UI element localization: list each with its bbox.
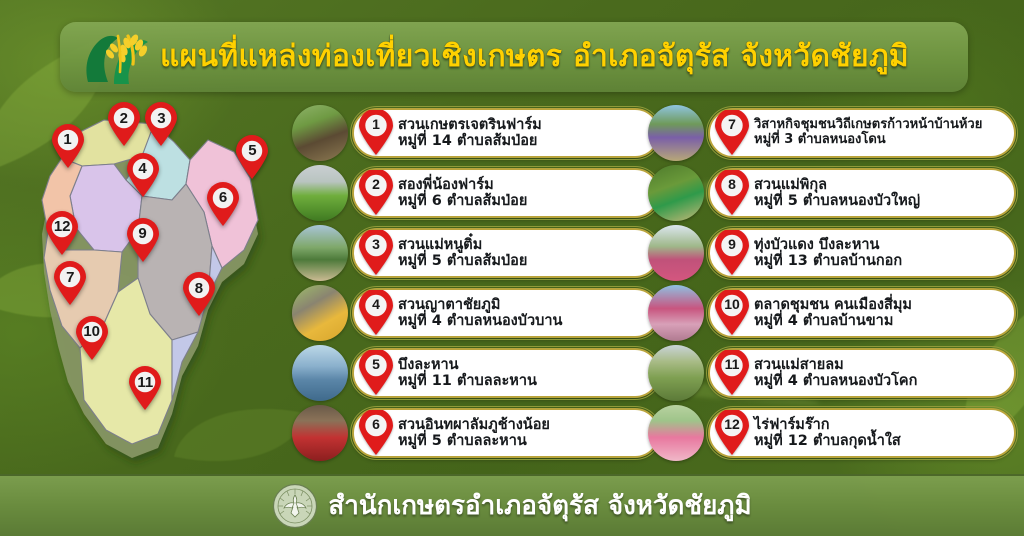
card-text: วิสาหกิจชุมชนวิถีเกษตรก้าวหน้าบ้านห้วย ห… <box>754 118 982 147</box>
place-card[interactable]: 1 สวนเกษตรเจตรินฟาร์ม หมู่ที่ 14 ตำบลส้ม… <box>352 108 660 158</box>
map-pin-11[interactable]: 11 <box>128 367 162 411</box>
place-subtitle: หมู่ที่ 11 ตำบลละหาน <box>398 373 537 389</box>
card-text: สวนแม่หนูติ๋ม หมู่ที่ 5 ตำบลส้มป่อย <box>398 237 527 269</box>
card-pin-label: 11 <box>714 351 750 376</box>
card-pin-label: 8 <box>714 171 750 196</box>
place-subtitle: หมู่ที่ 6 ตำบลส้มป่อย <box>398 193 527 209</box>
list-column-left: 1 สวนเกษตรเจตรินฟาร์ม หมู่ที่ 14 ตำบลส้ม… <box>292 108 660 468</box>
list-item[interactable]: 10 ตลาดชุมชน คนเมืองสี่มุม หมู่ที่ 4 ตำบ… <box>648 288 1016 338</box>
place-title: สองพี่น้องฟาร์ม <box>398 177 527 193</box>
place-card[interactable]: 4 สวนญาตาชัยภูมิ หมู่ที่ 4 ตำบลหนองบัวบา… <box>352 288 660 338</box>
place-subtitle: หมู่ที่ 4 ตำบลหนองบัวโคก <box>754 373 917 389</box>
map-pin-8[interactable]: 8 <box>182 273 216 317</box>
thumbnail-photo <box>648 285 704 341</box>
list-item[interactable]: 7 วิสาหกิจชุมชนวิถีเกษตรก้าวหน้าบ้านห้วย… <box>648 108 1016 158</box>
list-item[interactable]: 9 ทุ่งบัวแดง บึงละหาน หมู่ที่ 13 ตำบลบ้า… <box>648 228 1016 278</box>
place-subtitle: หมู่ที่ 14 ตำบลส้มป่อย <box>398 133 542 149</box>
card-text: สวนเกษตรเจตรินฟาร์ม หมู่ที่ 14 ตำบลส้มป่… <box>398 117 542 149</box>
place-subtitle: หมู่ที่ 4 ตำบลบ้านขาม <box>754 313 912 329</box>
card-pin-icon: 5 <box>358 350 394 396</box>
map-pin-1[interactable]: 1 <box>51 125 85 169</box>
list-item[interactable]: 5 บึงละหาน หมู่ที่ 11 ตำบลละหาน <box>292 348 660 398</box>
list-item[interactable]: 3 สวนแม่หนูติ๋ม หมู่ที่ 5 ตำบลส้มป่อย <box>292 228 660 278</box>
thumbnail-photo <box>292 225 348 281</box>
place-card[interactable]: 5 บึงละหาน หมู่ที่ 11 ตำบลละหาน <box>352 348 660 398</box>
list-item[interactable]: 2 สองพี่น้องฟาร์ม หมู่ที่ 6 ตำบลส้มป่อย <box>292 168 660 218</box>
place-title: สวนแม่สายลม <box>754 357 917 373</box>
place-subtitle: หมู่ที่ 4 ตำบลหนองบัวบาน <box>398 313 562 329</box>
card-text: สวนญาตาชัยภูมิ หมู่ที่ 4 ตำบลหนองบัวบาน <box>398 297 562 329</box>
garuda-seal-icon <box>272 483 318 529</box>
thumbnail-photo <box>648 225 704 281</box>
page-title: แผนที่แหล่งท่องเที่ยวเชิงเกษตร อำเภอจัตุ… <box>160 42 909 72</box>
thumbnail-photo <box>292 285 348 341</box>
list-item[interactable]: 6 สวนอินทผาลัมภูช้างน้อย หมู่ที่ 5 ตำบลล… <box>292 408 660 458</box>
card-pin-icon: 6 <box>358 410 394 456</box>
place-title: สวนแม่พิกุล <box>754 177 920 193</box>
infographic-canvas: แผนที่แหล่งท่องเที่ยวเชิงเกษตร อำเภอจัตุ… <box>0 0 1024 536</box>
map-pin-2[interactable]: 2 <box>107 103 141 147</box>
thumbnail-photo <box>292 165 348 221</box>
list-item[interactable]: 11 สวนแม่สายลม หมู่ที่ 4 ตำบลหนองบัวโคก <box>648 348 1016 398</box>
place-card[interactable]: 7 วิสาหกิจชุมชนวิถีเกษตรก้าวหน้าบ้านห้วย… <box>708 108 1016 158</box>
thumbnail-photo <box>648 105 704 161</box>
place-card[interactable]: 12 ไร่ฟาร์มร๊าก หมู่ที่ 12 ตำบลกุดน้ำใส <box>708 408 1016 458</box>
place-card[interactable]: 8 สวนแม่พิกุล หมู่ที่ 5 ตำบลหนองบัวใหญ่ <box>708 168 1016 218</box>
card-text: สองพี่น้องฟาร์ม หมู่ที่ 6 ตำบลส้มป่อย <box>398 177 527 209</box>
place-title: วิสาหกิจชุมชนวิถีเกษตรก้าวหน้าบ้านห้วย <box>754 118 982 133</box>
list-item[interactable]: 4 สวนญาตาชัยภูมิ หมู่ที่ 4 ตำบลหนองบัวบา… <box>292 288 660 338</box>
card-text: สวนอินทผาลัมภูช้างน้อย หมู่ที่ 5 ตำบลละห… <box>398 417 550 449</box>
card-pin-label: 2 <box>358 171 394 196</box>
map-pin-10[interactable]: 10 <box>75 317 109 361</box>
place-card[interactable]: 10 ตลาดชุมชน คนเมืองสี่มุม หมู่ที่ 4 ตำบ… <box>708 288 1016 338</box>
footer-title: สำนักเกษตรอำเภอจัตุรัส จังหวัดชัยภูมิ <box>328 493 751 519</box>
card-pin-icon: 8 <box>714 170 750 216</box>
card-pin-label: 3 <box>358 231 394 256</box>
card-pin-icon: 12 <box>714 410 750 456</box>
thumbnail-photo <box>648 165 704 221</box>
thumbnail-photo <box>648 345 704 401</box>
place-card[interactable]: 6 สวนอินทผาลัมภูช้างน้อย หมู่ที่ 5 ตำบลล… <box>352 408 660 458</box>
card-pin-icon: 3 <box>358 230 394 276</box>
place-title: ตลาดชุมชน คนเมืองสี่มุม <box>754 297 912 313</box>
card-text: ตลาดชุมชน คนเมืองสี่มุม หมู่ที่ 4 ตำบลบ้… <box>754 297 912 329</box>
map-pin-5[interactable]: 5 <box>235 136 269 180</box>
card-pin-label: 5 <box>358 351 394 376</box>
place-subtitle: หมู่ที่ 3 ตำบลหนองโดน <box>754 133 982 148</box>
place-title: สวนแม่หนูติ๋ม <box>398 237 527 253</box>
list-item[interactable]: 12 ไร่ฟาร์มร๊าก หมู่ที่ 12 ตำบลกุดน้ำใส <box>648 408 1016 458</box>
card-text: สวนแม่สายลม หมู่ที่ 4 ตำบลหนองบัวโคก <box>754 357 917 389</box>
card-pin-label: 12 <box>714 411 750 436</box>
card-pin-label: 1 <box>358 111 394 136</box>
card-pin-label: 7 <box>714 111 750 136</box>
place-card[interactable]: 2 สองพี่น้องฟาร์ม หมู่ที่ 6 ตำบลส้มป่อย <box>352 168 660 218</box>
thumbnail-photo <box>292 105 348 161</box>
place-subtitle: หมู่ที่ 5 ตำบลส้มป่อย <box>398 253 527 269</box>
thumbnail-photo <box>292 405 348 461</box>
card-pin-icon: 11 <box>714 350 750 396</box>
place-card[interactable]: 3 สวนแม่หนูติ๋ม หมู่ที่ 5 ตำบลส้มป่อย <box>352 228 660 278</box>
place-card[interactable]: 11 สวนแม่สายลม หมู่ที่ 4 ตำบลหนองบัวโคก <box>708 348 1016 398</box>
card-text: ทุ่งบัวแดง บึงละหาน หมู่ที่ 13 ตำบลบ้านก… <box>754 237 902 269</box>
place-card[interactable]: 9 ทุ่งบัวแดง บึงละหาน หมู่ที่ 13 ตำบลบ้า… <box>708 228 1016 278</box>
place-title: สวนอินทผาลัมภูช้างน้อย <box>398 417 550 433</box>
map-pin-6[interactable]: 6 <box>206 183 240 227</box>
place-title: ไร่ฟาร์มร๊าก <box>754 417 901 433</box>
card-pin-icon: 1 <box>358 110 394 156</box>
map-pin-12[interactable]: 12 <box>45 212 79 256</box>
map-pin-7[interactable]: 7 <box>53 262 87 306</box>
card-pin-icon: 10 <box>714 290 750 336</box>
card-text: สวนแม่พิกุล หมู่ที่ 5 ตำบลหนองบัวใหญ่ <box>754 177 920 209</box>
place-subtitle: หมู่ที่ 12 ตำบลกุดน้ำใส <box>754 433 901 449</box>
card-pin-icon: 7 <box>714 110 750 156</box>
list-item[interactable]: 1 สวนเกษตรเจตรินฟาร์ม หมู่ที่ 14 ตำบลส้ม… <box>292 108 660 158</box>
place-title: สวนญาตาชัยภูมิ <box>398 297 562 313</box>
card-pin-icon: 4 <box>358 290 394 336</box>
place-subtitle: หมู่ที่ 13 ตำบลบ้านกอก <box>754 253 902 269</box>
card-text: บึงละหาน หมู่ที่ 11 ตำบลละหาน <box>398 357 537 389</box>
place-title: สวนเกษตรเจตรินฟาร์ม <box>398 117 542 133</box>
map-pin-3[interactable]: 3 <box>144 103 178 147</box>
thumbnail-photo <box>648 405 704 461</box>
thumbnail-photo <box>292 345 348 401</box>
card-pin-icon: 9 <box>714 230 750 276</box>
card-pin-icon: 2 <box>358 170 394 216</box>
card-pin-label: 9 <box>714 231 750 256</box>
card-pin-label: 4 <box>358 291 394 316</box>
district-map: 1 2 3 4 5 6 7 8 <box>22 100 290 462</box>
place-subtitle: หมู่ที่ 5 ตำบลหนองบัวใหญ่ <box>754 193 920 209</box>
header-bar: แผนที่แหล่งท่องเที่ยวเชิงเกษตร อำเภอจัตุ… <box>60 22 968 92</box>
doae-rice-stalk-logo-icon <box>74 26 158 88</box>
footer-bar: สำนักเกษตรอำเภอจัตุรัส จังหวัดชัยภูมิ <box>0 474 1024 536</box>
place-title: ทุ่งบัวแดง บึงละหาน <box>754 237 902 253</box>
place-title: บึงละหาน <box>398 357 537 373</box>
card-text: ไร่ฟาร์มร๊าก หมู่ที่ 12 ตำบลกุดน้ำใส <box>754 417 901 449</box>
map-pin-4[interactable]: 4 <box>126 154 160 198</box>
list-column-right: 7 วิสาหกิจชุมชนวิถีเกษตรก้าวหน้าบ้านห้วย… <box>648 108 1016 468</box>
list-item[interactable]: 8 สวนแม่พิกุล หมู่ที่ 5 ตำบลหนองบัวใหญ่ <box>648 168 1016 218</box>
card-pin-label: 6 <box>358 411 394 436</box>
place-subtitle: หมู่ที่ 5 ตำบลละหาน <box>398 433 550 449</box>
card-pin-label: 10 <box>714 291 750 316</box>
map-pin-9[interactable]: 9 <box>126 219 160 263</box>
